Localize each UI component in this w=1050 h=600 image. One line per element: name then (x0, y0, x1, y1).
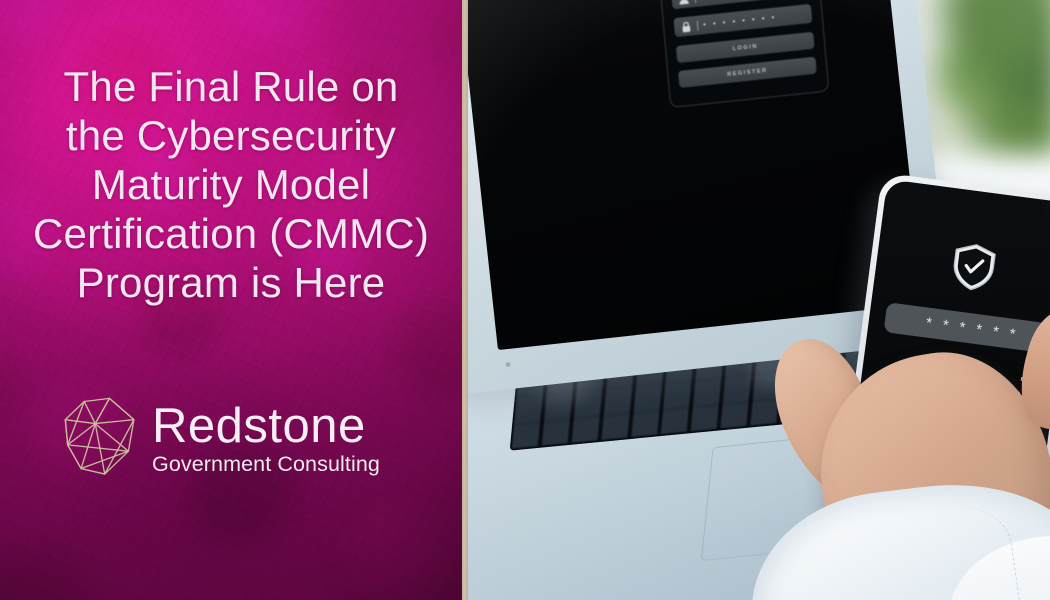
keypad-key-4[interactable]: 4 (872, 402, 934, 443)
password-value: • • • • • • • • (703, 13, 777, 30)
laptop-bezel-dot (505, 362, 511, 368)
brand-logo[interactable]: Redstone Government Consulting (60, 396, 380, 478)
keypad-key-9[interactable]: 9 (981, 466, 1043, 507)
pin-dot: * (925, 315, 933, 331)
logo-text-lockup: Redstone Government Consulting (152, 399, 380, 476)
pin-dot: * (1009, 326, 1017, 342)
logo-wordmark: Redstone (152, 401, 380, 451)
keypad-key-0[interactable]: 0 (917, 508, 979, 549)
pin-dot: * (975, 322, 983, 338)
keypad-key-1[interactable]: 1 (878, 352, 940, 393)
page-title: The Final Rule on the Cybersecurity Matu… (31, 62, 431, 307)
title-panel: The Final Rule on the Cybersecurity Matu… (0, 0, 462, 600)
keypad-key-5[interactable]: 5 (930, 409, 992, 450)
blog-banner: The Final Rule on the Cybersecurity Matu… (0, 0, 1050, 600)
user-icon (676, 0, 690, 6)
keypad-key-6[interactable]: 6 (988, 417, 1050, 458)
keypad-key-2[interactable]: 2 (936, 360, 998, 401)
field-separator (694, 0, 696, 2)
phone-keypad[interactable]: 1 2 3 4 5 6 7 8 9 0 (859, 352, 1050, 557)
hero-photo: USERNAME • • • • • • • • LOGIN (462, 0, 1050, 600)
keypad-key-3[interactable]: 3 (994, 367, 1050, 408)
keypad-key-8[interactable]: 8 (923, 459, 985, 500)
login-button-label: LOGIN (732, 43, 758, 52)
register-button-label: REGISTER (727, 67, 768, 77)
field-separator (697, 20, 699, 30)
pin-dot: * (992, 324, 1000, 340)
keypad-key-7[interactable]: 7 (865, 451, 927, 492)
pin-dot: * (942, 317, 950, 333)
lock-icon (679, 19, 693, 33)
pin-mask-field[interactable]: * * * * * * (883, 302, 1050, 354)
password-field[interactable]: • • • • • • • • (673, 4, 812, 37)
redstone-gem-logo-mark (60, 396, 140, 478)
pin-dot: * (958, 319, 966, 335)
laptop-login-form: USERNAME • • • • • • • • LOGIN (659, 0, 830, 108)
username-value: USERNAME (700, 0, 753, 1)
register-button[interactable]: REGISTER (678, 57, 817, 88)
title-panel-content: The Final Rule on the Cybersecurity Matu… (0, 0, 462, 600)
shield-check-icon (949, 241, 997, 294)
panel-divider (462, 0, 468, 600)
login-card: USERNAME • • • • • • • • LOGIN (659, 0, 830, 108)
logo-tagline: Government Consulting (152, 452, 380, 476)
